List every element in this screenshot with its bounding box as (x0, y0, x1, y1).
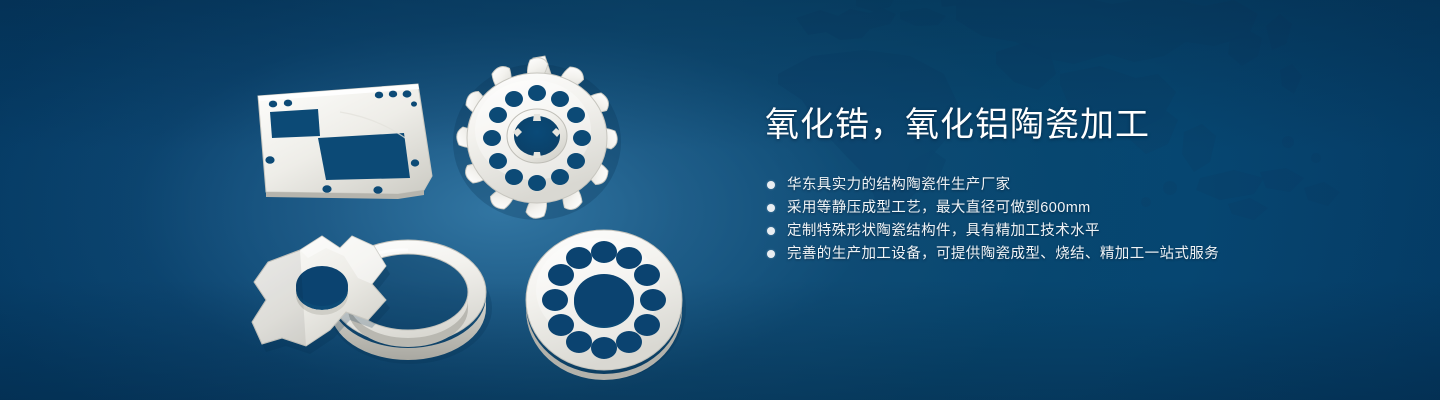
list-item-label: 定制特殊形状陶瓷结构件，具有精加工技术水平 (787, 224, 1100, 239)
list-item-label: 华东具实力的结构陶瓷件生产厂家 (787, 178, 1011, 193)
ceramic-products-image (0, 0, 720, 400)
list-item: 定制特殊形状陶瓷结构件，具有精加工技术水平 (767, 220, 1385, 243)
promo-banner: 氧化锆，氧化铝陶瓷加工 华东具实力的结构陶瓷件生产厂家 采用等静压成型工艺，最大… (0, 0, 1440, 400)
bullet-dot-icon (767, 227, 775, 235)
banner-copy: 氧化锆，氧化铝陶瓷加工 华东具实力的结构陶瓷件生产厂家 采用等静压成型工艺，最大… (765, 104, 1385, 266)
list-item: 完善的生产加工设备，可提供陶瓷成型、烧结、精加工一站式服务 (767, 243, 1385, 266)
bullet-dot-icon (767, 181, 775, 189)
list-item-label: 采用等静压成型工艺，最大直径可做到600mm (787, 201, 1091, 216)
feature-list: 华东具实力的结构陶瓷件生产厂家 采用等静压成型工艺，最大直径可做到600mm 定… (767, 174, 1385, 266)
ceramic-perforated-disc (526, 230, 686, 380)
ceramic-impeller-disc (453, 56, 621, 220)
list-item-label: 完善的生产加工设备，可提供陶瓷成型、烧结、精加工一站式服务 (787, 247, 1219, 262)
bullet-dot-icon (767, 204, 775, 212)
page-title: 氧化锆，氧化铝陶瓷加工 (765, 104, 1385, 147)
ceramic-machined-plate (258, 84, 432, 199)
bullet-dot-icon (767, 250, 775, 258)
list-item: 采用等静压成型工艺，最大直径可做到600mm (767, 197, 1385, 220)
list-item: 华东具实力的结构陶瓷件生产厂家 (767, 174, 1385, 197)
